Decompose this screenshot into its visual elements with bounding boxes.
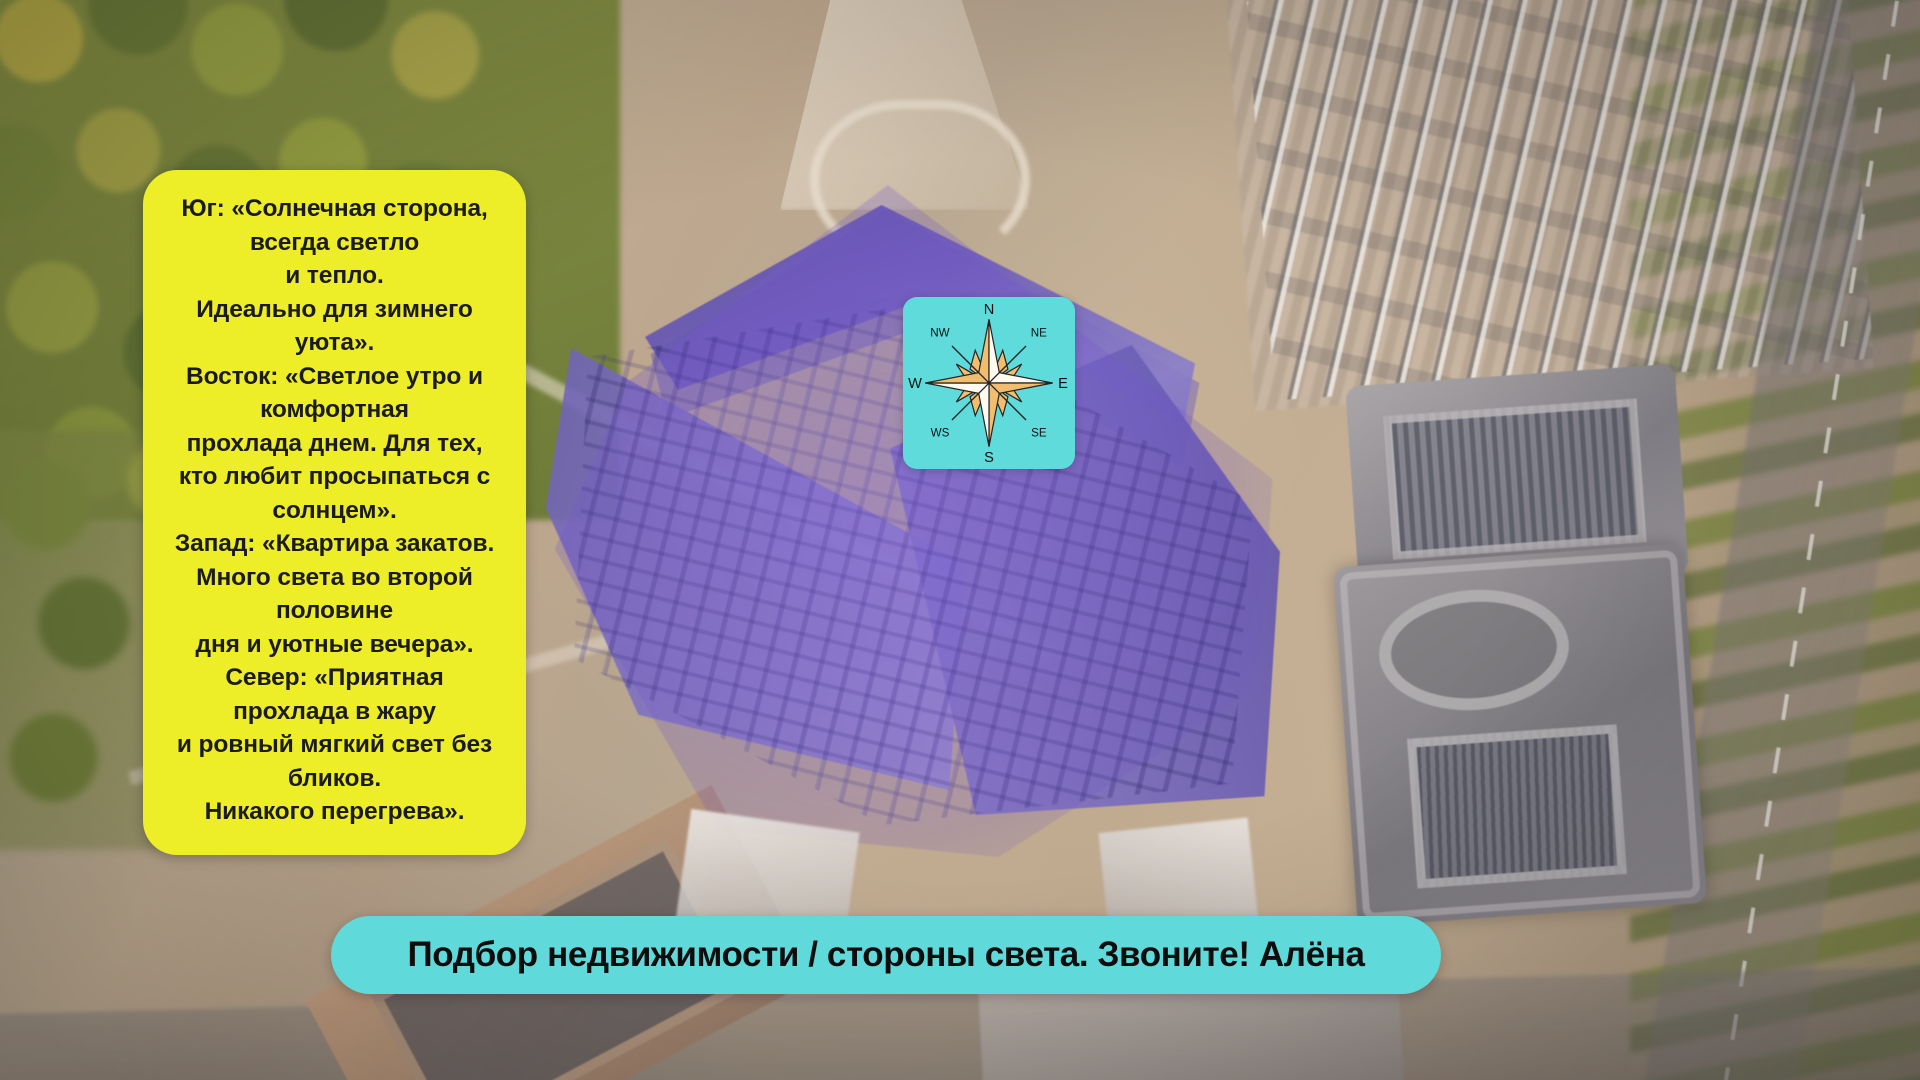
compass-rose-icon: N S W E NW NE WS SE (903, 297, 1075, 469)
poster-canvas: Юг: «Солнечная сторона, всегда светло и … (0, 0, 1920, 1080)
info-line: и тепло. (153, 259, 516, 293)
compass-label-ne: NE (1031, 327, 1047, 340)
compass-label-w: W (908, 376, 922, 392)
orientation-info-card: Юг: «Солнечная сторона, всегда светло и … (143, 170, 526, 855)
compass-label-nw: NW (930, 327, 949, 340)
info-line: Север: «Приятная (153, 661, 516, 695)
info-line: Много света во второй (153, 561, 516, 595)
info-line: кто любит просыпаться с (153, 460, 516, 494)
info-line: Идеально для зимнего (153, 293, 516, 327)
info-line: половине (153, 594, 516, 628)
info-line: Никакого перегрева». (153, 795, 516, 829)
compass-label-s: S (984, 450, 994, 466)
info-line: и ровный мягкий свет без (153, 728, 516, 762)
info-line: солнцем». (153, 494, 516, 528)
info-line: дня и уютные вечера». (153, 628, 516, 662)
neighbour-building-right (1333, 543, 1707, 927)
info-line: Юг: «Солнечная сторона, (153, 192, 516, 226)
info-line: Восток: «Светлое утро и (153, 360, 516, 394)
compass-label-se: SE (1031, 426, 1047, 439)
info-line: уюта». (153, 326, 516, 360)
info-line: всегда светло (153, 226, 516, 260)
info-line: комфортная (153, 393, 516, 427)
info-line: прохлада днем. Для тех, (153, 427, 516, 461)
compass-label-ws: WS (931, 426, 950, 439)
compass-label-e: E (1058, 376, 1068, 392)
building-inner-courtyard (1407, 724, 1627, 888)
info-line: прохлада в жару (153, 695, 516, 729)
cta-banner[interactable]: Подбор недвижимости / стороны света. Зво… (331, 916, 1441, 994)
highlighted-building (560, 185, 1260, 885)
compass-label-n: N (984, 302, 995, 318)
info-line: Запад: «Квартира закатов. (153, 527, 516, 561)
info-line: бликов. (153, 762, 516, 796)
cta-banner-text: Подбор недвижимости / стороны света. Зво… (407, 935, 1364, 975)
